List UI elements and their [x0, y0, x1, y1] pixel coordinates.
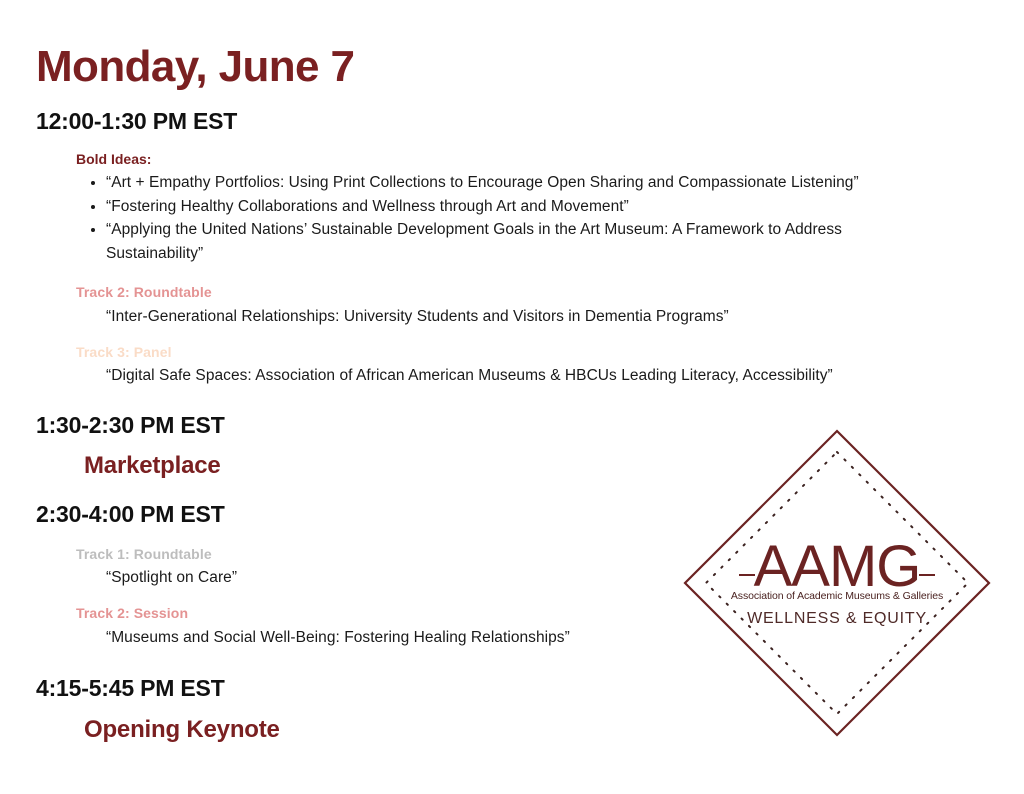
schedule-slot-1: 12:00-1:30 PM EST Bold Ideas: “Art + Emp…: [36, 108, 936, 388]
aamg-logo: AAMG Association of Academic Museums & G…: [682, 428, 992, 738]
list-item: “Applying the United Nations’ Sustainabl…: [106, 218, 936, 265]
schedule-page: Monday, June 7 12:00-1:30 PM EST Bold Id…: [0, 0, 1024, 794]
bold-ideas-session-list: “Art + Empathy Portfolios: Using Print C…: [76, 171, 936, 265]
slot-body-1: Bold Ideas: “Art + Empathy Portfolios: U…: [36, 150, 936, 388]
track-label-3-panel: Track 3: Panel: [76, 343, 936, 363]
track-session-title: “Digital Safe Spaces: Association of Afr…: [76, 364, 936, 388]
track-session-title: “Inter-Generational Relationships: Unive…: [76, 305, 936, 329]
list-item: “Art + Empathy Portfolios: Using Print C…: [106, 171, 936, 195]
diamond-frame-icon: [682, 428, 992, 738]
page-title: Monday, June 7: [36, 44, 354, 90]
list-item: “Fostering Healthy Collaborations and We…: [106, 195, 936, 219]
bold-ideas-label: Bold Ideas:: [76, 150, 936, 170]
track-label-2-roundtable: Track 2: Roundtable: [76, 283, 936, 303]
slot-time-1: 12:00-1:30 PM EST: [36, 108, 936, 136]
